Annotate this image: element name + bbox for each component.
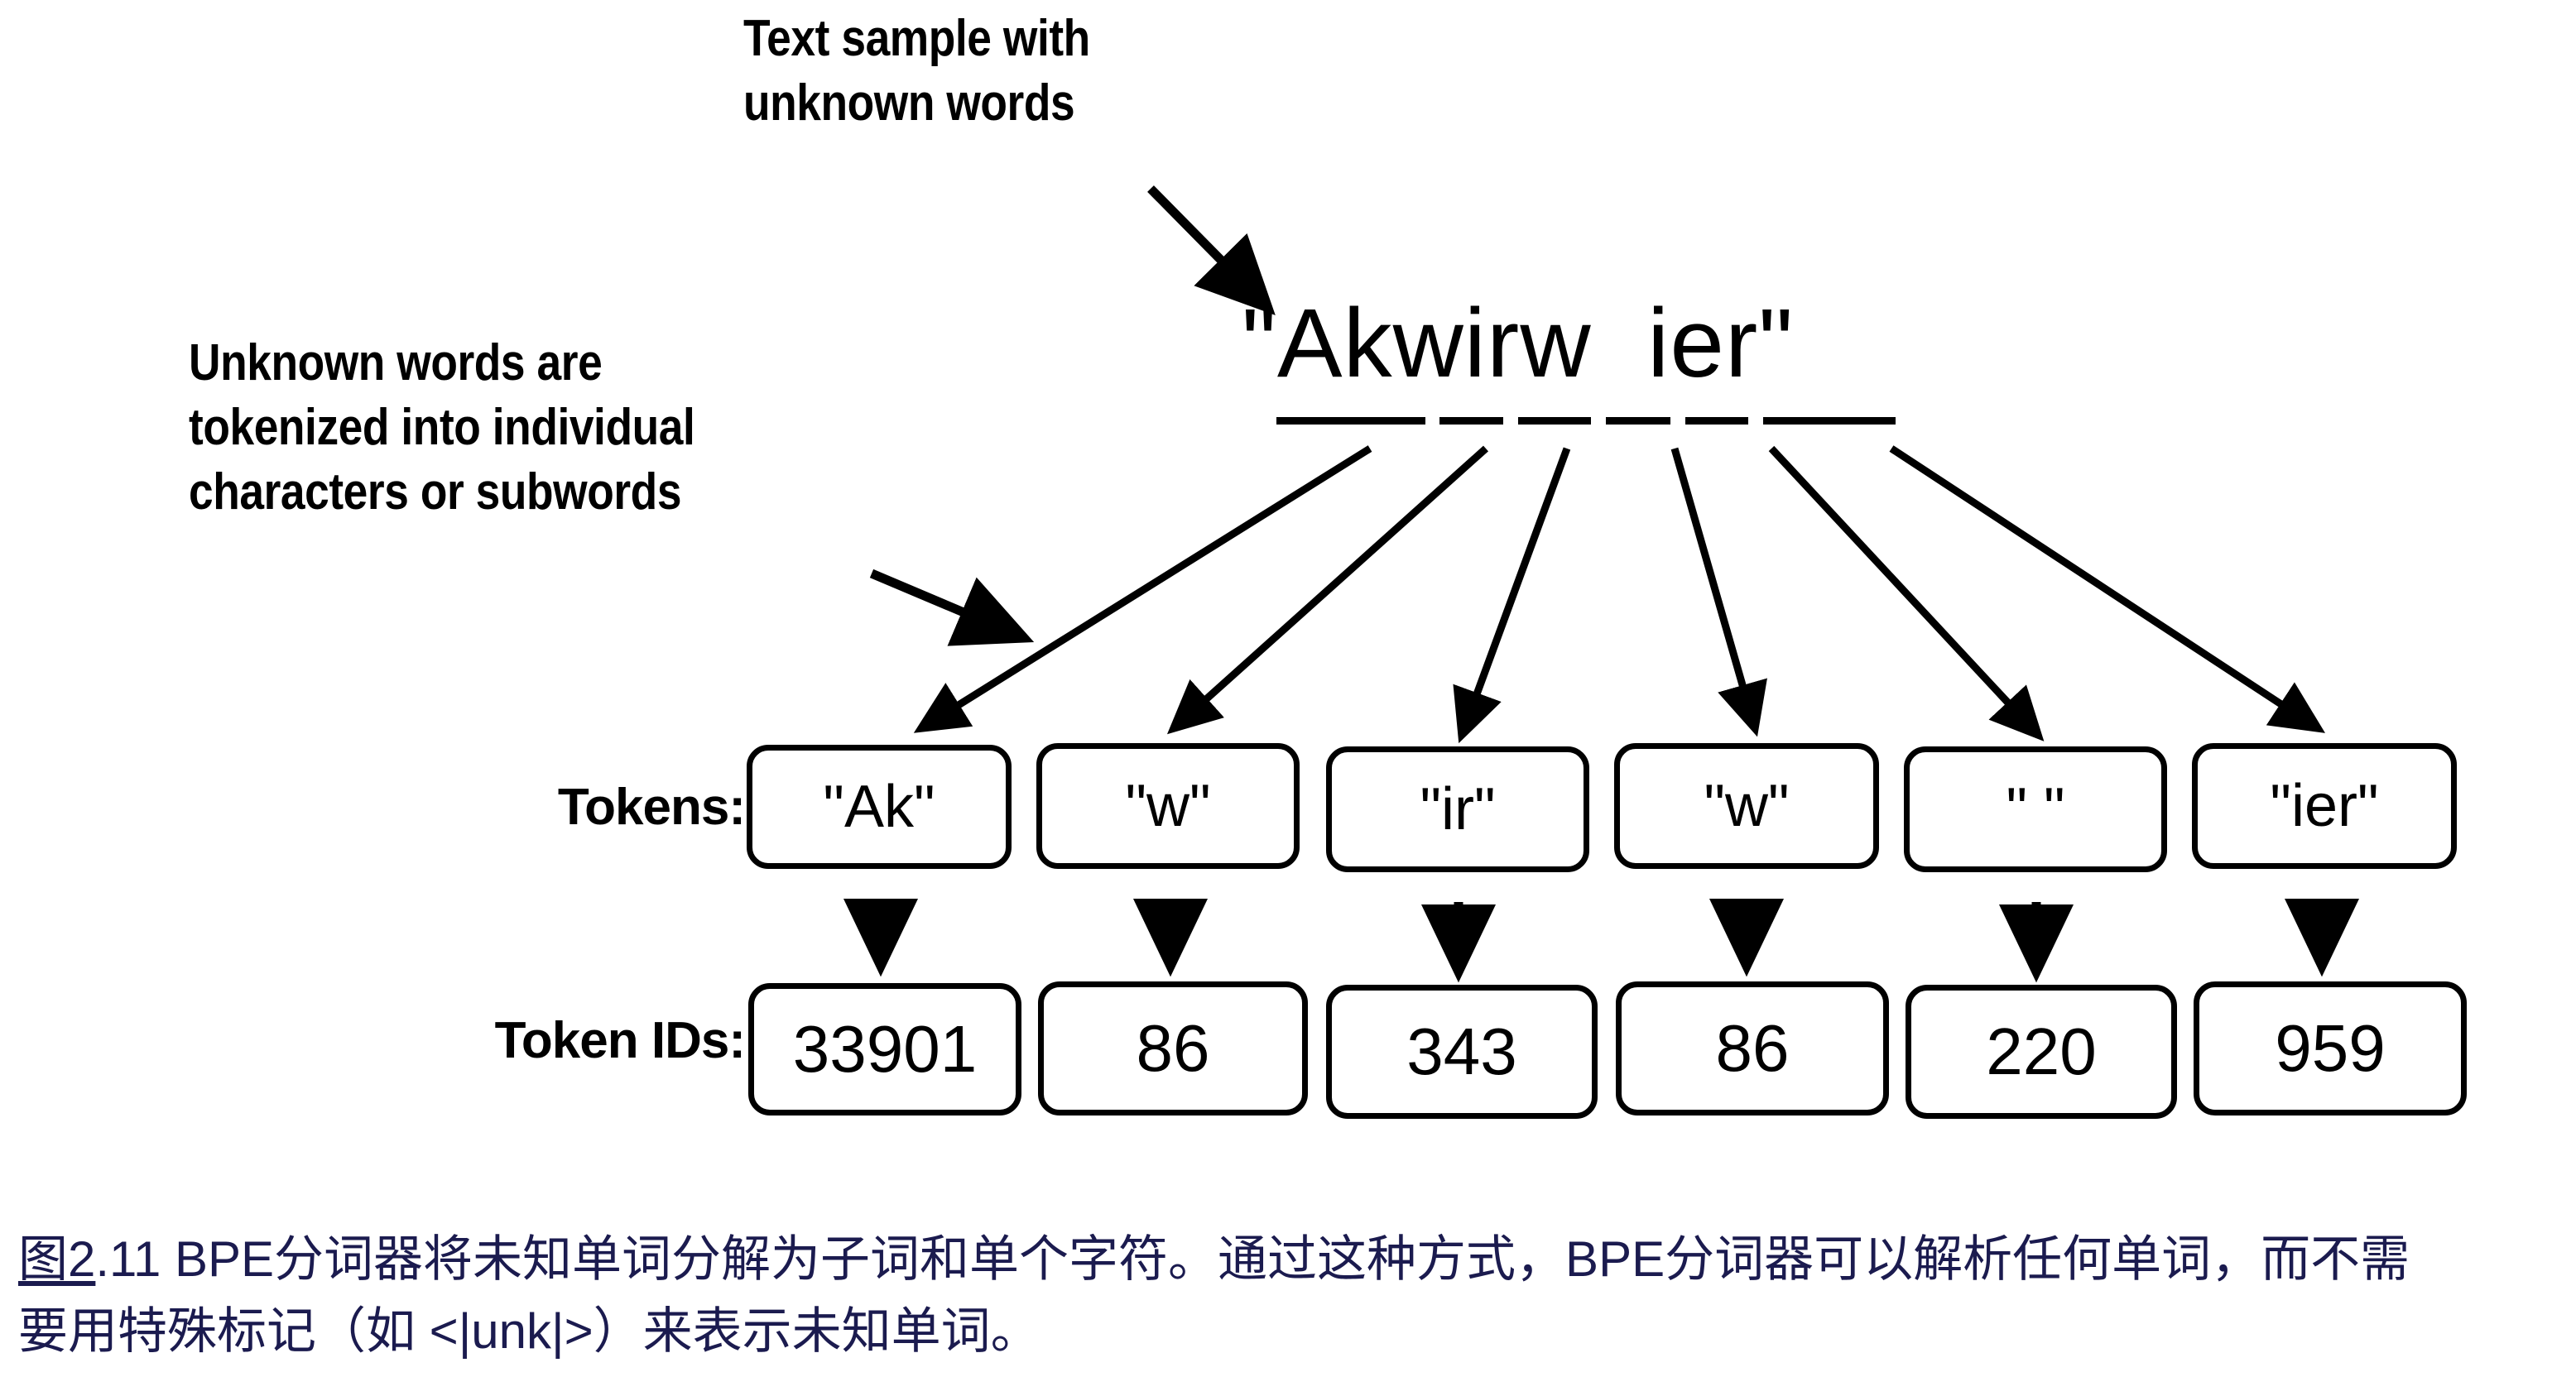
token-id-label: 86 <box>1137 1015 1210 1082</box>
token-id-label: 86 <box>1716 1015 1790 1082</box>
token-id-label: 33901 <box>793 1016 977 1082</box>
token-box: "ir" <box>1326 746 1589 872</box>
arrow-layer <box>0 0 2576 1377</box>
arrow-segment-to-token-3 <box>1462 449 1567 735</box>
token-box: "w" <box>1614 743 1879 869</box>
segment-underline-ier <box>1763 417 1896 425</box>
token-label: "w" <box>1704 776 1789 836</box>
token-id-box: 343 <box>1326 985 1598 1119</box>
token-id-box: 86 <box>1616 981 1889 1116</box>
sample-text: "Akwirw ier" <box>1242 295 1794 392</box>
annotation-unknown-words: Unknown words are tokenized into individ… <box>189 331 694 525</box>
annotation-text-sample: Text sample with unknown words <box>743 7 1090 136</box>
segment-underline-w2 <box>1606 417 1670 425</box>
segment-underline-w1 <box>1439 417 1503 425</box>
token-id-box: 959 <box>2194 981 2467 1116</box>
token-box: "ier" <box>2192 743 2457 869</box>
arrow-segment-to-token-5 <box>1771 449 2038 735</box>
arrow-unknown-words <box>872 573 1022 637</box>
arrow-segment-to-token-6 <box>1891 449 2318 728</box>
arrow-segment-to-token-2 <box>1174 449 1486 728</box>
token-label: "ir" <box>1420 780 1495 839</box>
arrow-segment-to-token-1 <box>921 449 1370 728</box>
figure-canvas: Text sample with unknown words Unknown w… <box>0 0 2576 1377</box>
sample-text-group: "Akwirw ier" <box>1242 295 1794 435</box>
token-label: "Ak" <box>823 777 935 837</box>
token-box: "w" <box>1036 743 1300 869</box>
segment-underline-ir <box>1518 417 1591 425</box>
caption-line-1: 图2.11 BPE分词器将未知单词分解为子词和单个字符。通过这种方式，BPE分词… <box>18 1223 2559 1295</box>
token-box: "Ak" <box>747 745 1012 869</box>
row-label-token-ids: Token IDs: <box>116 1011 745 1070</box>
segment-underline-space <box>1685 417 1748 425</box>
figure-caption: 图2.11 BPE分词器将未知单词分解为子词和单个字符。通过这种方式，BPE分词… <box>18 1223 2559 1367</box>
token-label: "ier" <box>2270 776 2378 836</box>
caption-figure-number: 图2 <box>18 1231 95 1287</box>
caption-line-1-rest: .11 BPE分词器将未知单词分解为子词和单个字符。通过这种方式，BPE分词器可… <box>95 1231 2410 1287</box>
token-id-box: 220 <box>1906 985 2177 1119</box>
token-id-box: 86 <box>1038 981 1308 1116</box>
segment-underline-ak <box>1276 417 1425 425</box>
token-id-label: 220 <box>1986 1019 2096 1085</box>
token-label: "w" <box>1125 776 1210 836</box>
token-label: " " <box>2006 780 2064 839</box>
arrow-segment-to-token-4 <box>1675 449 1755 728</box>
row-label-tokens: Tokens: <box>116 778 745 837</box>
token-id-label: 959 <box>2275 1015 2385 1082</box>
token-box: " " <box>1904 746 2167 872</box>
token-id-box: 33901 <box>748 983 1021 1116</box>
caption-line-2: 要用特殊标记（如 <|unk|>）来表示未知单词。 <box>18 1295 2559 1367</box>
token-id-label: 343 <box>1406 1019 1516 1085</box>
